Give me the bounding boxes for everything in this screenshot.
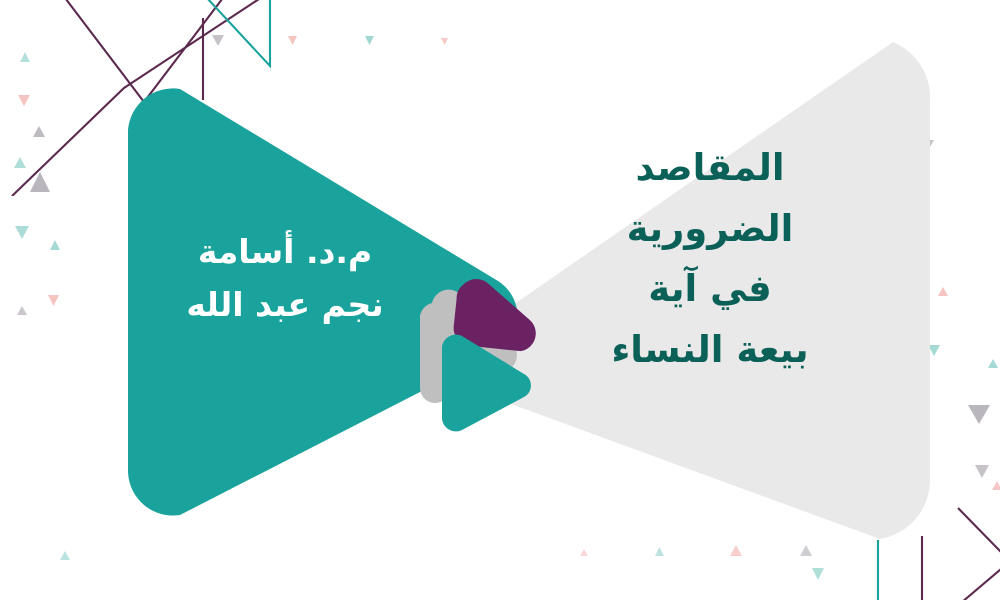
- author-line-2: نجم عبد الله: [150, 278, 420, 331]
- poster-title: المقاصد الضرورية في آية بيعة النساء: [570, 138, 850, 381]
- poster-canvas: المقاصد الضرورية في آية بيعة النساء م.د.…: [0, 0, 1000, 600]
- title-line-2: الضرورية: [570, 199, 850, 260]
- title-line-1: المقاصد: [570, 138, 850, 199]
- title-line-3: في آية: [570, 259, 850, 320]
- author-line-1: م.د. أسامة: [150, 225, 420, 278]
- poster-author: م.د. أسامة نجم عبد الله: [150, 225, 420, 332]
- title-line-4: بيعة النساء: [570, 320, 850, 381]
